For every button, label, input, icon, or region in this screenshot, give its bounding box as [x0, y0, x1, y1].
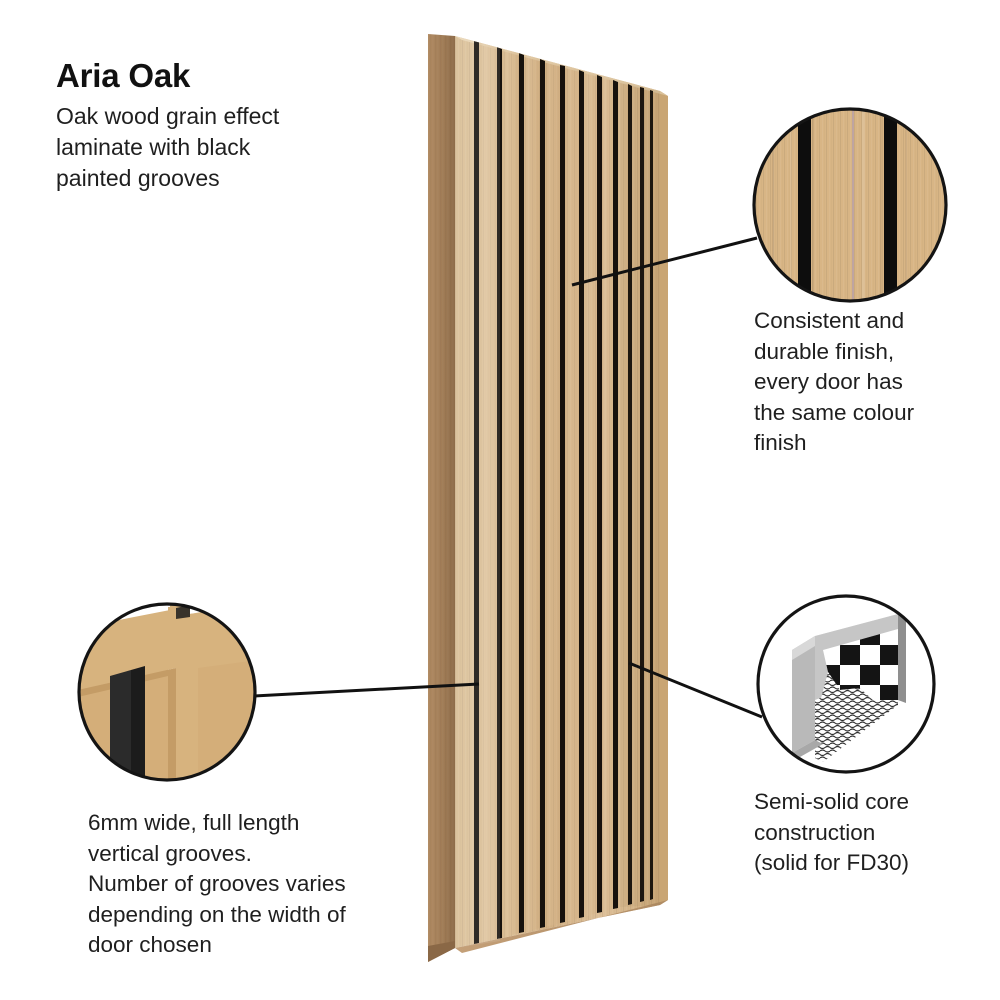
door-panel [428, 34, 668, 962]
door-groove [579, 70, 584, 918]
callout-line: depending on the width of [88, 900, 398, 931]
door-groove [597, 75, 602, 913]
callout-line: Semi-solid core [754, 787, 992, 818]
description-line: Oak wood grain effect [56, 101, 396, 132]
door-groove [540, 59, 545, 928]
detail-circle-finish [753, 108, 947, 302]
callout-line: door chosen [88, 930, 398, 961]
callout-line: Number of grooves varies [88, 869, 398, 900]
product-description: Oak wood grain effect laminate with blac… [56, 101, 396, 193]
callout-label-grooves: 6mm wide, full length vertical grooves. … [88, 808, 398, 961]
callout-line: finish [754, 428, 986, 459]
description-line: painted grooves [56, 163, 396, 194]
door-slat-highlight [524, 55, 540, 932]
detail-circle-groove-profile [78, 602, 258, 783]
core-panel-right-cap [898, 614, 906, 703]
door-slat-highlight [545, 61, 560, 927]
callout-line: 6mm wide, full length [88, 808, 398, 839]
callout-line: every door has [754, 367, 986, 398]
door-slat-highlight [502, 49, 519, 938]
callout-line: (solid for FD30) [754, 848, 992, 879]
detail-groove [884, 108, 897, 302]
callout-label-finish: Consistent and durable finish, every doo… [754, 306, 986, 459]
description-line: laminate with black [56, 132, 396, 163]
callout-line: Consistent and [754, 306, 986, 337]
groove-black-channel-inner [131, 666, 145, 783]
door-groove [613, 80, 618, 909]
door-slat-highlight [602, 77, 613, 912]
door-right-return [660, 91, 668, 905]
title-block: Aria Oak Oak wood grain effect laminate … [56, 58, 396, 193]
page-title: Aria Oak [56, 58, 396, 95]
callout-line: durable finish, [754, 337, 986, 368]
callout-line: construction [754, 818, 992, 849]
callout-line: vertical grooves. [88, 839, 398, 870]
callout-line: the same colour [754, 398, 986, 429]
detail-groove [798, 108, 811, 302]
door-groove [519, 53, 524, 933]
callout-label-core: Semi-solid core construction (solid for … [754, 787, 992, 879]
detail-circle-core [758, 596, 934, 772]
laminate-seam [852, 108, 854, 302]
illustration-canvas: Aria Oak Oak wood grain effect laminate … [0, 0, 1000, 1000]
door-groove [560, 65, 565, 923]
door-slat-highlight [565, 66, 579, 922]
door-slat-highlight [584, 72, 597, 917]
